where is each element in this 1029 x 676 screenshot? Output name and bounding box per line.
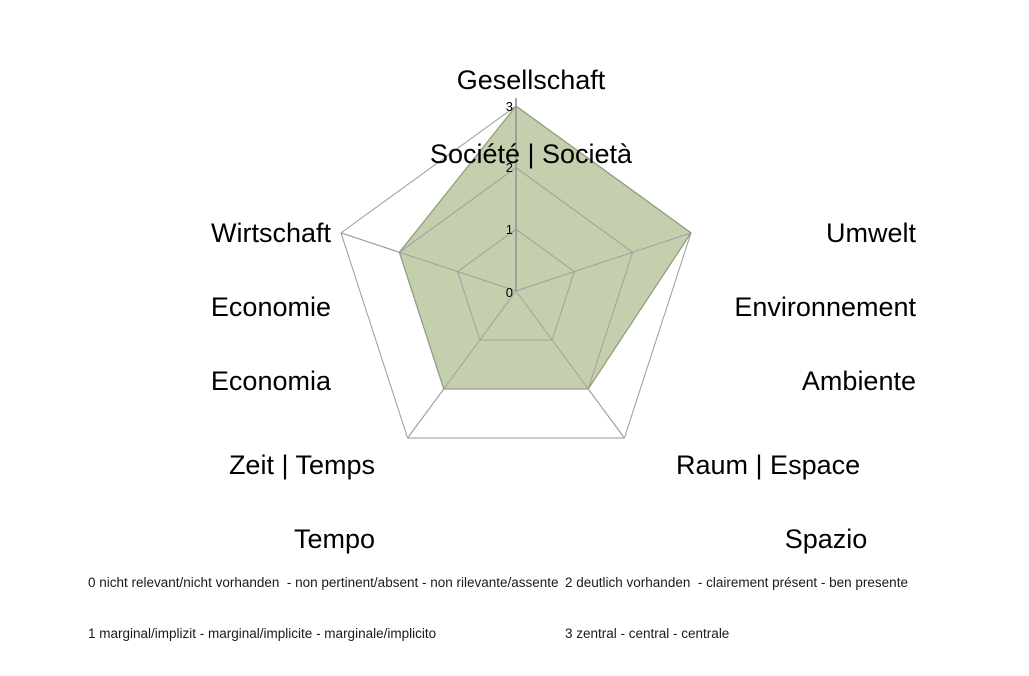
axis-label-umwelt: Umwelt Environnement Ambiente <box>600 178 916 437</box>
legend-item-3: 3 zentral - central - centrale <box>565 625 908 642</box>
axis-label-zeit-line1: Zeit | Temps <box>229 450 375 480</box>
axis-label-umwelt-line2: Environnement <box>734 292 916 322</box>
legend-item-0: 0 nicht relevant/nicht vorhanden - non p… <box>88 574 559 591</box>
radar-chart: 3 2 1 0 Gesellschaft Société | Società U… <box>0 0 1029 520</box>
legend-item-2: 2 deutlich vorhanden - clairement présen… <box>565 574 908 591</box>
axis-label-wirtschaft-line3: Economia <box>211 366 331 396</box>
legend-column-right: 2 deutlich vorhanden - clairement présen… <box>565 540 908 676</box>
axis-label-gesellschaft-line2: Société | Società <box>430 139 632 169</box>
chart-legend: 0 nicht relevant/nicht vorhanden - non p… <box>0 538 1029 585</box>
legend-column-left: 0 nicht relevant/nicht vorhanden - non p… <box>88 540 559 676</box>
axis-label-wirtschaft-line2: Economie <box>211 292 331 322</box>
axis-label-wirtschaft: Wirtschaft Economie Economia <box>60 178 331 437</box>
legend-item-1: 1 marginal/implizit - marginal/implicite… <box>88 625 559 642</box>
axis-label-wirtschaft-line1: Wirtschaft <box>211 218 331 248</box>
axis-label-raum-line1: Raum | Espace <box>676 450 860 480</box>
axis-label-umwelt-line3: Ambiente <box>802 366 916 396</box>
axis-label-umwelt-line1: Umwelt <box>826 218 916 248</box>
axis-label-gesellschaft-line1: Gesellschaft <box>457 65 606 95</box>
tick-label-1: 1 <box>506 222 513 237</box>
tick-label-0: 0 <box>506 285 513 300</box>
